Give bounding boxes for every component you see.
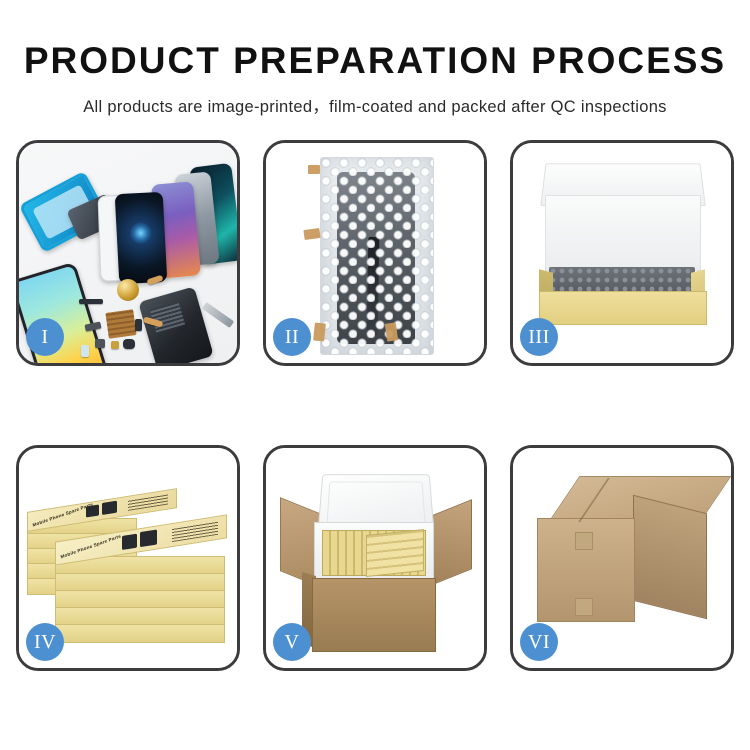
tape-strip xyxy=(313,322,326,341)
bubble-bag xyxy=(320,157,434,355)
box-front-wall xyxy=(539,291,707,325)
box-spec-lines xyxy=(172,521,218,542)
tape-strip xyxy=(303,228,320,240)
bubble-texture xyxy=(321,158,433,354)
speaker-module-graphic xyxy=(117,279,139,301)
carton-right-face xyxy=(633,495,707,619)
process-step-3[interactable]: III xyxy=(510,140,734,366)
logic-board-graphic xyxy=(105,309,136,339)
part-chip xyxy=(95,339,105,348)
stacked-box xyxy=(55,624,225,643)
phone-image-on-box xyxy=(86,504,99,517)
part-chip xyxy=(135,319,142,331)
part-chip xyxy=(81,345,89,357)
phone-back-shell-graphic xyxy=(138,286,214,363)
carton-tape-patch xyxy=(575,598,593,616)
step-badge-4: IV xyxy=(26,623,64,661)
tweezers-graphic xyxy=(202,302,234,328)
black-phone-graphic xyxy=(115,192,168,284)
tape-strip xyxy=(308,165,320,174)
phone-image-on-box xyxy=(140,529,157,547)
phone-image-on-box xyxy=(102,501,117,515)
process-step-1[interactable]: I xyxy=(16,140,240,366)
tape-strip xyxy=(385,322,398,341)
process-step-grid: I II xyxy=(16,140,734,680)
part-chip xyxy=(123,339,135,349)
box-back-wall xyxy=(545,195,701,271)
carton-tape-patch xyxy=(575,532,593,550)
part-chip xyxy=(111,341,119,349)
packed-boxes-row xyxy=(366,529,424,577)
step-badge-6: VI xyxy=(520,623,558,661)
phone-image-on-box xyxy=(122,534,137,550)
box-spec-lines xyxy=(128,494,168,511)
step-badge-1: I xyxy=(26,318,64,356)
step-badge-2: II xyxy=(273,318,311,356)
process-step-6[interactable]: VI xyxy=(510,445,734,671)
step-badge-5: V xyxy=(273,623,311,661)
box-stack: Mobile Phone Spare Parts Mobile Phone Sp… xyxy=(27,470,229,646)
step-badge-3: III xyxy=(520,318,558,356)
product-preparation-infographic: PRODUCT PREPARATION PROCESS All products… xyxy=(0,0,750,750)
page-title: PRODUCT PREPARATION PROCESS xyxy=(0,42,750,79)
page-subtitle: All products are image-printed，film-coat… xyxy=(0,93,750,117)
header: PRODUCT PREPARATION PROCESS All products… xyxy=(0,0,750,117)
process-step-5[interactable]: V xyxy=(263,445,487,671)
process-step-4[interactable]: Mobile Phone Spare Parts Mobile Phone Sp… xyxy=(16,445,240,671)
carton-front-wall xyxy=(312,578,436,652)
process-step-2[interactable]: II xyxy=(263,140,487,366)
part-chip xyxy=(79,299,103,304)
